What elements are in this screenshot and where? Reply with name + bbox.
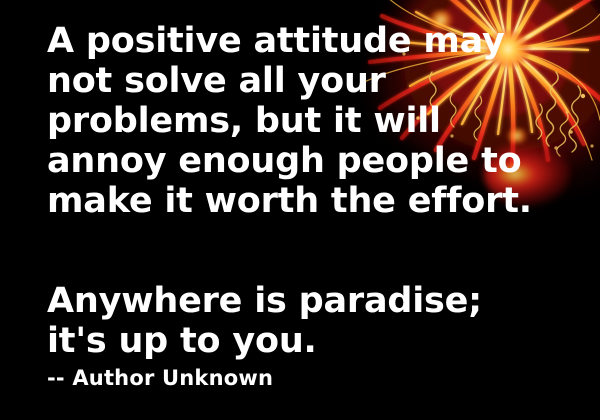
quote-poster: A positive attitude may not solve all yo… [0,0,600,420]
quote-line-2: not solve all your [47,62,386,100]
quote-line-4: annoy enough people to [47,142,521,180]
secondary-quote-line-1: Anywhere is paradise; [47,282,482,320]
secondary-quote-line-2: it's up to you. [47,322,317,360]
quote-line-1: A positive attitude may [47,22,505,60]
quote-line-3: problems, but it will [47,102,441,140]
quote-text-layer: A positive attitude may not solve all yo… [0,0,600,420]
attribution-text: -- Author Unknown [47,366,273,390]
quote-line-5: make it worth the effort. [47,182,532,220]
